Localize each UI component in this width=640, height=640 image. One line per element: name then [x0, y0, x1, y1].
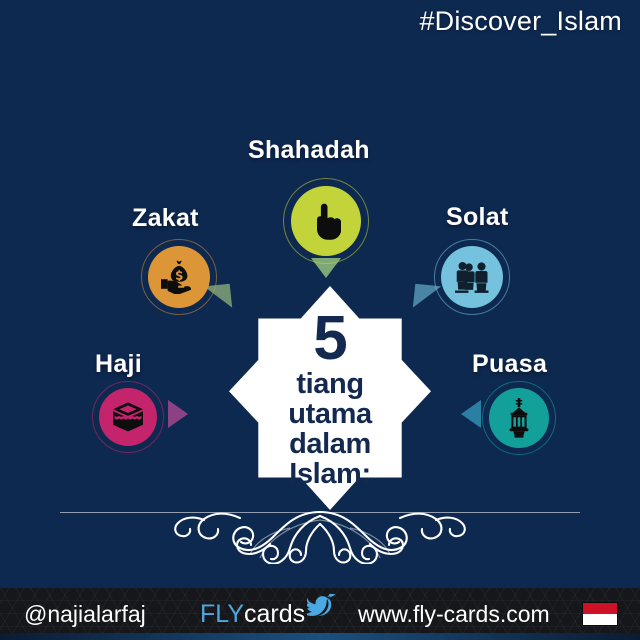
filigree-ornament — [120, 498, 520, 564]
bird-icon — [307, 593, 337, 626]
footer-bar: @najialarfaj FLY cards www.fly-cards.com — [0, 588, 640, 640]
pointing-finger-icon — [311, 202, 341, 240]
brand-text-fly: FLY — [200, 600, 244, 629]
indonesia-flag-icon — [582, 602, 618, 626]
pillar-node-puasa[interactable] — [489, 388, 549, 448]
center-star-text: 5 tiang utama dalam Islam: — [229, 286, 431, 510]
center-line-3: dalam — [289, 429, 371, 459]
lantern-icon — [506, 398, 532, 438]
center-line-4: Islam: — [289, 459, 370, 489]
praying-people-icon — [453, 259, 491, 295]
footer-bottom-stripe — [0, 633, 640, 640]
pillar-node-haji[interactable] — [99, 388, 157, 446]
connector-arrow-haji — [168, 400, 188, 428]
hand-money-bag-icon — [160, 260, 198, 294]
flag-stripe-red — [583, 603, 617, 614]
infographic-canvas: #Discover_Islam 5 tiang utama dalam Isla… — [0, 0, 640, 640]
pillar-node-shahadah[interactable] — [291, 186, 361, 256]
center-line-1: tiang — [296, 369, 363, 399]
pillar-label-shahadah: Shahadah — [248, 136, 370, 165]
pillar-label-zakat: Zakat — [132, 204, 199, 233]
flag-stripe-white — [583, 614, 617, 625]
pillar-node-zakat[interactable] — [148, 246, 210, 308]
connector-arrow-puasa — [461, 400, 481, 428]
website-url[interactable]: www.fly-cards.com — [358, 601, 550, 628]
pillar-label-puasa: Puasa — [472, 350, 547, 379]
author-handle[interactable]: @najialarfaj — [24, 601, 146, 628]
hashtag-label: #Discover_Islam — [419, 6, 622, 37]
kaaba-icon — [110, 401, 146, 433]
pillar-label-haji: Haji — [95, 350, 142, 379]
center-line-2: utama — [288, 399, 371, 429]
pillar-node-solat[interactable] — [441, 246, 503, 308]
brand-text-cards: cards — [244, 600, 305, 629]
brand-logo[interactable]: FLY cards — [200, 600, 337, 629]
pillar-count-number: 5 — [313, 310, 346, 369]
pillar-label-solat: Solat — [446, 203, 509, 232]
